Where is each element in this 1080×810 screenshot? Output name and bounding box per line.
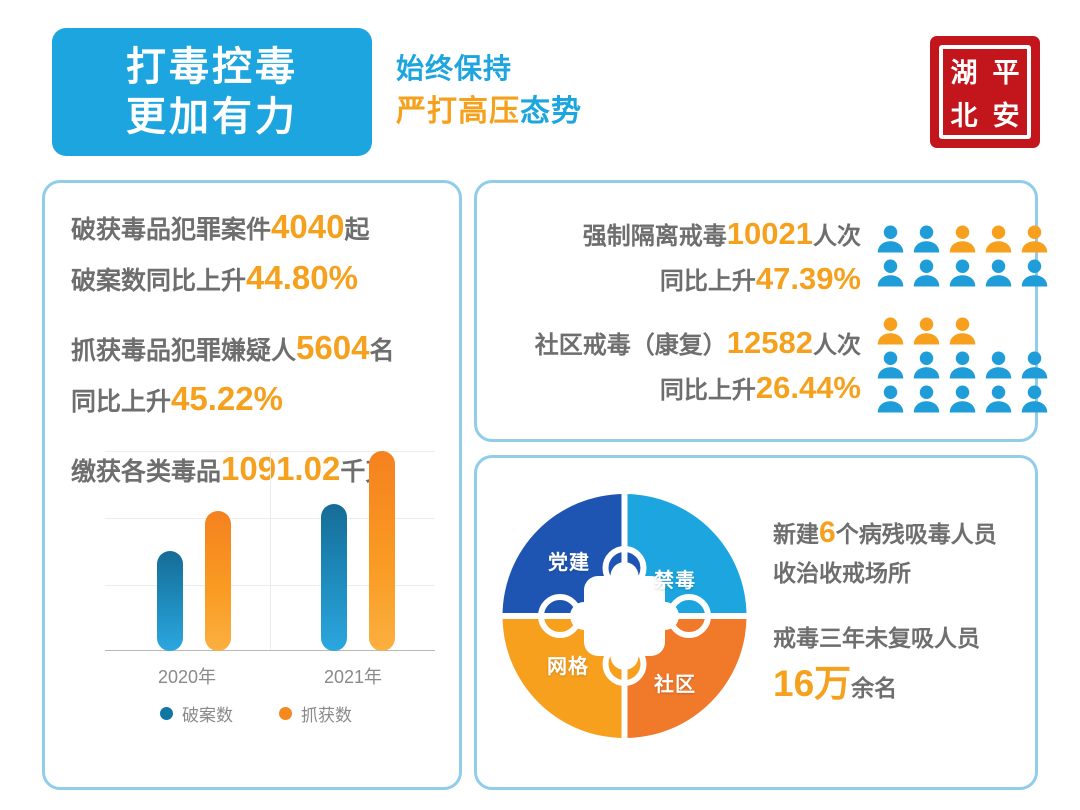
stat-unit: 名 bbox=[369, 337, 394, 365]
rehab-group-community: 社区戒毒（康复）12582人次 同比上升26.44% bbox=[485, 316, 1050, 414]
person-icon bbox=[1019, 384, 1050, 414]
pictogram-group-compulsory bbox=[875, 224, 1050, 288]
bar-2020-arrests[interactable] bbox=[205, 511, 231, 651]
subtitle-emphasis-orange: 严打高压 bbox=[396, 95, 520, 128]
person-icon bbox=[911, 350, 942, 380]
stat-value: 44.80% bbox=[246, 259, 358, 296]
person-icon bbox=[875, 384, 906, 414]
pictogram-row bbox=[875, 224, 1050, 254]
stat-row: 破获毒品犯罪案件4040起 bbox=[71, 201, 451, 252]
legend-item-arrests[interactable]: 抓获数 bbox=[279, 701, 352, 726]
rehab-group-text: 社区戒毒（康复）12582人次 同比上升26.44% bbox=[485, 320, 861, 411]
stat-label: 抓获毒品犯罪嫌疑人 bbox=[71, 337, 296, 365]
stat-unit: 人次 bbox=[813, 223, 861, 250]
stat-row: 社区戒毒（康复）12582人次 bbox=[485, 320, 861, 365]
puzzle-diagram: 党建 禁毒 网格 社区 bbox=[502, 492, 747, 740]
pictogram-row bbox=[875, 258, 1050, 288]
puzzle-label-community: 社区 bbox=[654, 668, 696, 697]
stat-row: 新建6个病残吸毒人员 bbox=[773, 510, 1023, 556]
rehab-group-text: 强制隔离戒毒10021人次 同比上升47.39% bbox=[499, 211, 861, 302]
person-icon bbox=[983, 384, 1014, 414]
seal-char-4: 安 bbox=[985, 92, 1027, 135]
subtitle-emphasis-blue: 态势 bbox=[520, 95, 582, 128]
puzzle-label-party: 党建 bbox=[548, 546, 590, 575]
puzzle-svg bbox=[502, 492, 747, 740]
stat-unit: 余名 bbox=[851, 675, 897, 701]
subtitle: 始终保持 严打高压态势 bbox=[396, 50, 582, 133]
stat-label: 收治收戒场所 bbox=[773, 560, 911, 586]
stat-row: 同比上升45.22% bbox=[71, 373, 451, 424]
stat-row: 破案数同比上升44.80% bbox=[71, 252, 451, 303]
stat-value: 47.39% bbox=[756, 261, 861, 296]
stat-unit: 个病残吸毒人员 bbox=[836, 521, 997, 547]
person-icon bbox=[911, 384, 942, 414]
stat-value: 45.22% bbox=[171, 380, 283, 417]
person-icon bbox=[947, 224, 978, 254]
puzzle-label-grid: 网格 bbox=[547, 650, 589, 679]
stat-value: 10021 bbox=[727, 216, 813, 251]
stat-label: 同比上升 bbox=[660, 268, 756, 295]
stat-value: 4040 bbox=[271, 208, 344, 245]
legend-item-break-cases[interactable]: 破案数 bbox=[160, 701, 233, 726]
network-panel-text: 新建6个病残吸毒人员 收治收戒场所 戒毒三年未复吸人员 16万余名 bbox=[773, 510, 1023, 712]
person-icon bbox=[875, 316, 906, 346]
legend-dot-icon bbox=[160, 707, 173, 720]
seal-char-1: 湖 bbox=[943, 49, 985, 92]
person-icon bbox=[983, 224, 1014, 254]
bar-2020-break-cases[interactable] bbox=[157, 551, 183, 651]
stat-unit: 起 bbox=[344, 216, 369, 244]
stat-row: 抓获毒品犯罪嫌疑人5604名 bbox=[71, 322, 451, 373]
person-icon bbox=[983, 350, 1014, 380]
legend-dot-icon bbox=[279, 707, 292, 720]
legend-label: 破案数 bbox=[182, 701, 233, 726]
person-icon bbox=[983, 258, 1014, 288]
person-icon bbox=[875, 350, 906, 380]
stat-row: 同比上升26.44% bbox=[485, 365, 861, 410]
spacer bbox=[71, 304, 451, 322]
subtitle-line-2: 严打高压态势 bbox=[396, 92, 582, 133]
seal-inner-frame: 湖 平 北 安 bbox=[939, 45, 1031, 139]
stat-label: 破案数同比上升 bbox=[71, 267, 246, 295]
pictogram-row bbox=[875, 384, 1050, 414]
subtitle-line-1: 始终保持 bbox=[396, 50, 582, 88]
chart-plot-area: 2020年 2021年 bbox=[105, 451, 435, 651]
person-icon bbox=[911, 224, 942, 254]
person-icon bbox=[947, 384, 978, 414]
page-title-line-1: 打毒控毒 bbox=[126, 42, 298, 92]
stat-value: 6 bbox=[819, 516, 836, 549]
person-icon bbox=[947, 316, 978, 346]
stat-row: 同比上升47.39% bbox=[499, 256, 861, 301]
stat-label: 戒毒三年未复吸人员 bbox=[773, 625, 980, 651]
drug-crime-stats-panel: 破获毒品犯罪案件4040起 破案数同比上升44.80% 抓获毒品犯罪嫌疑人560… bbox=[42, 180, 462, 790]
spacer bbox=[773, 591, 1023, 621]
person-icon bbox=[1019, 224, 1050, 254]
person-icon bbox=[947, 350, 978, 380]
seal-char-2: 平 bbox=[985, 49, 1027, 92]
stat-value: 12582 bbox=[727, 325, 813, 360]
person-icon bbox=[1019, 258, 1050, 288]
bar-2021-break-cases[interactable] bbox=[321, 504, 347, 651]
person-icon bbox=[875, 224, 906, 254]
community-network-panel: 党建 禁毒 网格 社区 新建6个病残吸毒人员 收治收戒场所 戒毒三年未复吸人员 … bbox=[474, 455, 1038, 790]
spacer bbox=[71, 425, 451, 443]
chart-category-separator bbox=[270, 451, 271, 651]
bar-2021-arrests[interactable] bbox=[369, 451, 395, 651]
person-icon bbox=[911, 258, 942, 288]
stat-row: 戒毒三年未复吸人员 bbox=[773, 621, 1023, 656]
page-title-box: 打毒控毒 更加有力 bbox=[52, 28, 372, 156]
pictogram-group-community bbox=[875, 316, 1050, 414]
person-icon bbox=[947, 258, 978, 288]
stat-value: 5604 bbox=[296, 329, 369, 366]
rehab-stats-panel: 强制隔离戒毒10021人次 同比上升47.39% bbox=[474, 180, 1038, 442]
person-icon bbox=[1019, 350, 1050, 380]
stat-value: 16万 bbox=[773, 663, 851, 704]
chart-xtick-2021: 2021年 bbox=[293, 663, 413, 689]
stat-label: 同比上升 bbox=[660, 377, 756, 404]
stat-row: 强制隔离戒毒10021人次 bbox=[499, 211, 861, 256]
chart-xtick-2020: 2020年 bbox=[127, 663, 247, 689]
person-icon bbox=[911, 316, 942, 346]
stat-label: 同比上升 bbox=[71, 388, 171, 416]
stat-row: 收治收戒场所 bbox=[773, 556, 1023, 591]
bar-chart: 2020年 2021年 破案数 抓获数 bbox=[67, 451, 445, 711]
stat-label: 破获毒品犯罪案件 bbox=[71, 216, 271, 244]
person-icon bbox=[875, 258, 906, 288]
stat-unit: 人次 bbox=[813, 332, 861, 359]
puzzle-label-antidrug: 禁毒 bbox=[654, 564, 696, 593]
pictogram-row bbox=[875, 316, 1050, 346]
stat-row: 16万余名 bbox=[773, 656, 1023, 712]
stat-label: 强制隔离戒毒 bbox=[583, 223, 727, 250]
chart-legend: 破案数 抓获数 bbox=[67, 701, 445, 726]
header: 打毒控毒 更加有力 始终保持 严打高压态势 湖 平 北 安 bbox=[0, 0, 1080, 175]
rehab-group-compulsory: 强制隔离戒毒10021人次 同比上升47.39% bbox=[499, 211, 1050, 302]
stat-label: 社区戒毒（康复） bbox=[535, 332, 727, 359]
pictogram-row bbox=[875, 350, 1050, 380]
legend-label: 抓获数 bbox=[301, 701, 352, 726]
stat-value: 26.44% bbox=[756, 370, 861, 405]
seal-char-3: 北 bbox=[943, 92, 985, 135]
page-title-line-2: 更加有力 bbox=[126, 92, 298, 142]
official-seal-stamp: 湖 平 北 安 bbox=[930, 36, 1040, 148]
stat-label: 新建 bbox=[773, 521, 819, 547]
